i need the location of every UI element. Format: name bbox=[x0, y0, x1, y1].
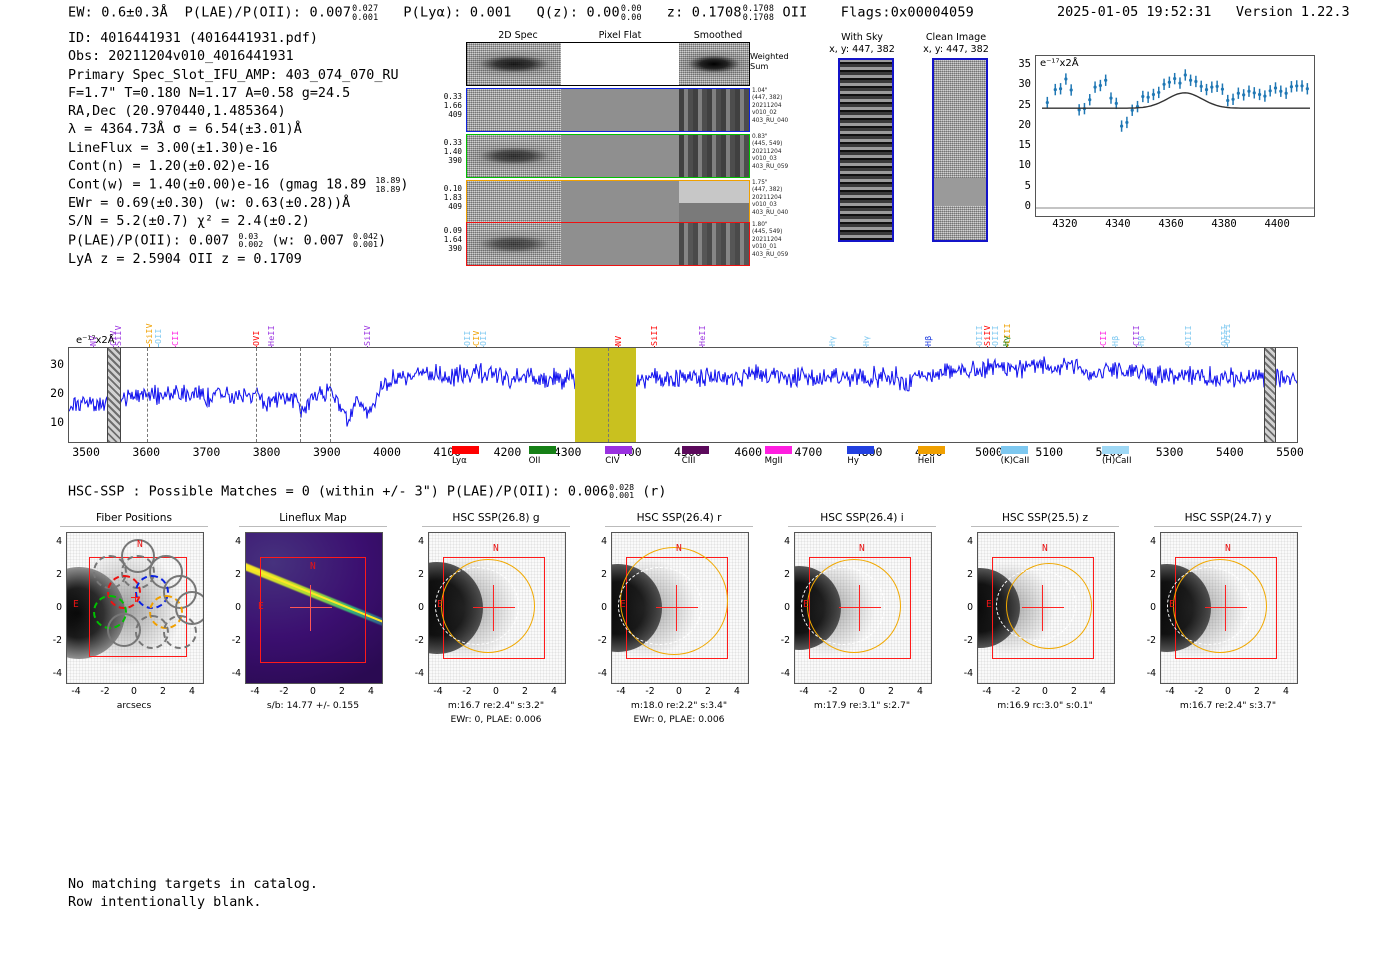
info-plae: P(LAE)/P(OII): 0.007 0.030.002 (w: 0.007… bbox=[68, 232, 408, 251]
cutout-xtick: -2 bbox=[95, 686, 115, 697]
cutout-title-2: Lineflux Map bbox=[238, 512, 388, 524]
header-datetime-version: 2025-01-05 19:52:31 Version 1.22.3 bbox=[1057, 4, 1350, 20]
weighted-sum-strip bbox=[466, 42, 750, 86]
info-plae-w-lo: 0.001 bbox=[353, 239, 378, 249]
line-fit-svg bbox=[1036, 56, 1314, 216]
fitplot-ytick: 5 bbox=[1007, 180, 1031, 192]
header-qz: Q(z): 0.00 bbox=[537, 5, 620, 21]
cutout-title-rule bbox=[1154, 526, 1302, 527]
cutout-xtick: -4 bbox=[245, 686, 265, 697]
cutout-title-6: HSC SSP(25.5) z bbox=[970, 512, 1120, 524]
legend-label: CIV bbox=[605, 456, 619, 466]
compass-n-4: N bbox=[676, 543, 682, 554]
cutout-plot-2: NE bbox=[245, 532, 383, 684]
legend-label: MgII bbox=[765, 456, 783, 466]
cutout-ytick: 2 bbox=[955, 569, 973, 580]
spectrum-line-label: Hγ bbox=[1001, 312, 1011, 346]
spectrum-masked-band bbox=[107, 348, 121, 442]
fitplot-annotation: e⁻¹⁷x2Å bbox=[1040, 58, 1079, 69]
cutout-xtick: 0 bbox=[1218, 686, 1238, 697]
info-ewr: EWr = 0.69(±0.30) (w: 0.63(±0.28))Å bbox=[68, 195, 408, 213]
header-plae-lo: 0.001 bbox=[352, 12, 378, 22]
hscssp-header-suffix: (r) bbox=[642, 484, 666, 499]
spectrum-xtick: 5500 bbox=[1264, 445, 1316, 459]
crosshair-h bbox=[1022, 607, 1064, 608]
legend-swatch bbox=[918, 446, 945, 454]
weighted-sum-label: Weighted Sum bbox=[750, 52, 789, 71]
cutout-ytick: -2 bbox=[1138, 635, 1156, 646]
fiber-meta-3: 1.75" (447, 382) 20211204 v010_03 403_RU… bbox=[752, 180, 816, 217]
info-seeing-params: F=1.7" T=0.180 N=1.17 A=0.58 g=24.5 bbox=[68, 85, 408, 103]
cutout-plot-4: NE bbox=[611, 532, 749, 684]
cutout-ytick: -2 bbox=[772, 635, 790, 646]
cutout-xtick: 0 bbox=[852, 686, 872, 697]
cutout-ytick: -4 bbox=[955, 668, 973, 679]
compass-n-7: N bbox=[1225, 543, 1231, 554]
withsky-title: With Sky x, y: 447, 382 bbox=[814, 32, 910, 55]
cutout-ytick: 2 bbox=[44, 569, 62, 580]
cutout-caption1-7: m:16.7 re:2.4" s:3.7" bbox=[1133, 700, 1323, 713]
cutout-title-rule bbox=[971, 526, 1119, 527]
cutout-ytick: 2 bbox=[1138, 569, 1156, 580]
cutout-ytick: 4 bbox=[772, 536, 790, 547]
info-wavelength-sigma: λ = 4364.73Å σ = 6.54(±3.01)Å bbox=[68, 121, 408, 139]
fiber-label-4: 0.09 1.64 390 bbox=[430, 226, 462, 254]
cutout-xtick: 4 bbox=[727, 686, 747, 697]
compass-e-4: E bbox=[620, 599, 626, 610]
2d-spec-panel: 2D Spec Pixel Flat Smoothed Weighted Sum… bbox=[430, 30, 760, 245]
info-id: ID: 4016441931 (4016441931.pdf) bbox=[68, 30, 408, 48]
cutout-ytick: 2 bbox=[406, 569, 424, 580]
spectrum-line-label: OIII bbox=[1222, 278, 1232, 344]
cutout-xtick: 4 bbox=[1093, 686, 1113, 697]
header-z-species: OII bbox=[782, 5, 807, 21]
spectrum-line-label: OII bbox=[153, 278, 163, 344]
legend-swatch bbox=[765, 446, 792, 454]
cutout-xtick: 0 bbox=[303, 686, 323, 697]
cutout-xtick: 4 bbox=[1276, 686, 1296, 697]
info-lineflux: LineFlux = 3.00(±1.30)e-16 bbox=[68, 140, 408, 158]
fiber-image-row-2 bbox=[466, 134, 750, 178]
info-obs: Obs: 20211204v010_4016441931 bbox=[68, 48, 408, 66]
cutout-xtick: 2 bbox=[515, 686, 535, 697]
spectrum-xtick: 5300 bbox=[1144, 445, 1196, 459]
cutout-title-7: HSC SSP(24.7) y bbox=[1153, 512, 1303, 524]
fitplot-ytick: 20 bbox=[1007, 119, 1031, 131]
spectrum-line-label: OIII bbox=[1183, 312, 1193, 346]
cutout-xtick: -2 bbox=[1006, 686, 1026, 697]
legend-label: CIII bbox=[682, 456, 696, 466]
legend-swatch bbox=[1102, 446, 1129, 454]
fitplot-ytick: 15 bbox=[1007, 139, 1031, 151]
cutout-ytick: 2 bbox=[589, 569, 607, 580]
full-spectrum-chart bbox=[68, 347, 1298, 443]
cutout-caption1-3: m:16.7 re:2.4" s:3.2" bbox=[401, 700, 591, 713]
cleanimage-cutout bbox=[932, 58, 988, 242]
withsky-cutout bbox=[838, 58, 894, 242]
fitplot-ytick: 0 bbox=[1007, 200, 1031, 212]
fitplot-xtick: 4360 bbox=[1152, 218, 1190, 230]
fiber-label-1: 0.33 1.66 409 bbox=[430, 92, 462, 120]
fiber-label-3: 0.10 1.83 409 bbox=[430, 184, 462, 212]
legend-swatch bbox=[452, 446, 479, 454]
cutout-xaxis-label: arcsecs bbox=[39, 700, 229, 713]
info-plae-lo: 0.002 bbox=[238, 239, 263, 249]
cutout-ytick: 0 bbox=[589, 602, 607, 613]
fiber-circle bbox=[163, 615, 197, 649]
crosshair-h bbox=[473, 607, 515, 608]
cutout-xtick: 0 bbox=[1035, 686, 1055, 697]
footer-note: No matching targets in catalog. Row inte… bbox=[68, 876, 318, 913]
cutout-title-5: HSC SSP(26.4) i bbox=[787, 512, 937, 524]
cutout-ytick: -2 bbox=[44, 635, 62, 646]
spectrum-legend-item: Hy bbox=[847, 446, 878, 466]
cutout-ytick: -4 bbox=[772, 668, 790, 679]
spectrum-line-label: NV bbox=[613, 312, 623, 346]
cutout-ytick: 4 bbox=[955, 536, 973, 547]
cutout-xtick: 0 bbox=[124, 686, 144, 697]
legend-swatch bbox=[1001, 446, 1028, 454]
cutout-caption1-2: s/b: 14.77 +/- 0.155 bbox=[218, 700, 408, 713]
compass-n-5: N bbox=[859, 543, 865, 554]
spectrum-xtick: 3500 bbox=[60, 445, 112, 459]
fiber-image-row-4 bbox=[466, 222, 750, 266]
cutout-xtick: 2 bbox=[1064, 686, 1084, 697]
cutout-ytick: 0 bbox=[1138, 602, 1156, 613]
cutout-title-rule bbox=[239, 526, 387, 527]
legend-label: (K)CaII bbox=[1001, 456, 1030, 466]
legend-swatch bbox=[529, 446, 556, 454]
cutout-xtick: 2 bbox=[698, 686, 718, 697]
compass-e-1: E bbox=[73, 599, 79, 610]
legend-label: Lyα bbox=[452, 456, 467, 466]
legend-label: HeII bbox=[918, 456, 935, 466]
spectrum-xtick: 3700 bbox=[180, 445, 232, 459]
cutout-xtick: -2 bbox=[457, 686, 477, 697]
header-plya: P(Lyα): 0.001 bbox=[403, 5, 511, 21]
compass-e-7: E bbox=[1169, 599, 1175, 610]
cutout-title-4: HSC SSP(26.4) r bbox=[604, 512, 754, 524]
header-plae-value: 0.007 bbox=[310, 5, 352, 21]
fiber-meta-2: 0.83" (445, 549) 20211204 v010_03 403_RU… bbox=[752, 134, 816, 171]
lineflux-aperture-box bbox=[260, 557, 366, 663]
cutout-xtick: -4 bbox=[1160, 686, 1180, 697]
info-cont-w: Cont(w) = 1.40(±0.00)e-16 (gmag 18.89 18… bbox=[68, 176, 408, 195]
fitplot-xtick: 4380 bbox=[1205, 218, 1243, 230]
spectrum-legend-item: OII bbox=[529, 446, 560, 466]
crosshair-h bbox=[839, 607, 881, 608]
fitplot-ytick: 30 bbox=[1007, 78, 1031, 90]
cutout-title-1: Fiber Positions bbox=[59, 512, 209, 524]
cutout-plot-7: NE bbox=[1160, 532, 1298, 684]
cutout-title-rule bbox=[422, 526, 570, 527]
spectrum-dashed-line bbox=[147, 348, 148, 442]
cutout-plot-5: NE bbox=[794, 532, 932, 684]
cutout-caption1-6: m:16.9 rc:3.0" s:0.1" bbox=[950, 700, 1140, 713]
spectrum-svg bbox=[69, 348, 1297, 442]
spectrum-legend-item: CIII bbox=[682, 446, 713, 466]
cutout-xtick: 4 bbox=[910, 686, 930, 697]
cutout-xtick: -4 bbox=[794, 686, 814, 697]
lineflux-crosshair-v bbox=[310, 585, 311, 631]
cutout-plot-6: NE bbox=[977, 532, 1115, 684]
spectrum-legend-item: MgII bbox=[765, 446, 796, 466]
spectrum-line-label: OIII bbox=[990, 312, 1000, 346]
dashed-aperture bbox=[801, 567, 885, 645]
spectrum-legend-item: (H)CaII bbox=[1102, 446, 1133, 466]
dashed-aperture bbox=[996, 569, 1076, 641]
dashed-aperture bbox=[1167, 567, 1251, 645]
cutout-ytick: 4 bbox=[406, 536, 424, 547]
spectrum-legend-item: Lyα bbox=[452, 446, 483, 466]
info-gmag-lo: 18.89 bbox=[375, 184, 400, 194]
cutout-ytick: -2 bbox=[406, 635, 424, 646]
spec2d-title-smoothed: Smoothed bbox=[668, 30, 768, 41]
spectrum-xtick: 4000 bbox=[361, 445, 413, 459]
cutout-ytick: -4 bbox=[589, 668, 607, 679]
cutout-ytick: 2 bbox=[772, 569, 790, 580]
spectrum-line-label: HeII bbox=[266, 312, 276, 346]
spectrum-legend-item: (K)CaII bbox=[1001, 446, 1032, 466]
cutout-ytick: 4 bbox=[1138, 536, 1156, 547]
spectrum-line-label: SiIV bbox=[362, 312, 372, 346]
compass-e-3: E bbox=[437, 599, 443, 610]
crosshair-h bbox=[1205, 607, 1247, 608]
fiber-center-v bbox=[135, 593, 136, 602]
cutout-xtick: 2 bbox=[332, 686, 352, 697]
info-primary-spec: Primary Spec_Slot_IFU_AMP: 403_074_070_R… bbox=[68, 67, 408, 85]
cutout-caption2-4: EWr: 0, PLAE: 0.006 bbox=[584, 714, 774, 727]
fitplot-xtick: 4400 bbox=[1258, 218, 1296, 230]
cutout-caption1-4: m:18.0 re:2.2" s:3.4" bbox=[584, 700, 774, 713]
spectrum-annotation: e⁻¹⁷x2Å bbox=[76, 335, 115, 346]
fiber-image-row-3 bbox=[466, 180, 750, 224]
fitplot-xtick: 4340 bbox=[1099, 218, 1137, 230]
cutout-xtick: 4 bbox=[544, 686, 564, 697]
cutout-ytick: -4 bbox=[44, 668, 62, 679]
cutout-ytick: -2 bbox=[223, 635, 241, 646]
cutout-title-rule bbox=[788, 526, 936, 527]
cutout-xtick: 0 bbox=[669, 686, 689, 697]
fiber-circle bbox=[107, 613, 141, 647]
cutout-xtick: 2 bbox=[881, 686, 901, 697]
hscssp-header: HSC-SSP : Possible Matches = 0 (within +… bbox=[68, 483, 666, 500]
cutout-ytick: 2 bbox=[223, 569, 241, 580]
fiber-image-row-1 bbox=[466, 88, 750, 132]
legend-label: Hy bbox=[847, 456, 859, 466]
spectrum-ytick: 30 bbox=[38, 357, 64, 371]
cutout-xtick: 4 bbox=[361, 686, 381, 697]
spectrum-highlight-band bbox=[575, 348, 636, 442]
cutout-xtick: -2 bbox=[274, 686, 294, 697]
compass-n-2: N bbox=[310, 561, 316, 572]
compass-n-6: N bbox=[1042, 543, 1048, 554]
fitplot-ytick: 35 bbox=[1007, 58, 1031, 70]
spectrum-masked-band bbox=[1264, 348, 1276, 442]
header-plae-label: P(LAE)/P(OII): bbox=[185, 5, 302, 21]
line-fit-chart: e⁻¹⁷x2Å bbox=[1035, 55, 1315, 217]
cutout-plot-3: NE bbox=[428, 532, 566, 684]
legend-label: OII bbox=[529, 456, 541, 466]
cutout-xtick: 4 bbox=[182, 686, 202, 697]
cutout-xtick: 2 bbox=[1247, 686, 1267, 697]
header-z-lo: 0.1708 bbox=[743, 12, 774, 22]
cutout-xtick: -2 bbox=[1189, 686, 1209, 697]
cutout-ytick: -4 bbox=[406, 668, 424, 679]
cutout-xtick: -4 bbox=[977, 686, 997, 697]
cutout-caption2-3: EWr: 0, PLAE: 0.006 bbox=[401, 714, 591, 727]
cutout-xtick: -4 bbox=[611, 686, 631, 697]
compass-e-2: E bbox=[258, 601, 264, 612]
spectrum-line-label: Hγ bbox=[827, 312, 837, 346]
header-z: z: 0.1708 bbox=[667, 5, 742, 21]
spectrum-ytick: 10 bbox=[38, 415, 64, 429]
spectrum-line-label: SiII bbox=[649, 312, 659, 346]
spectrum-xtick: 3600 bbox=[120, 445, 172, 459]
legend-label: (H)CaII bbox=[1102, 456, 1132, 466]
crosshair-h bbox=[656, 607, 698, 608]
cutout-title-3: HSC SSP(26.8) g bbox=[421, 512, 571, 524]
footer-line-2: Row intentionally blank. bbox=[68, 894, 318, 912]
dashed-aperture bbox=[435, 567, 519, 645]
spec2d-title-pixelflat: Pixel Flat bbox=[570, 30, 670, 41]
header-datetime: 2025-01-05 19:52:31 bbox=[1057, 4, 1211, 20]
header-flags: Flags:0x00004059 bbox=[841, 5, 974, 21]
cutout-ytick: -2 bbox=[589, 635, 607, 646]
cutout-title-rule bbox=[605, 526, 753, 527]
compass-n-3: N bbox=[493, 543, 499, 554]
fiber-meta-4: 1.80" (445, 549) 20211204 v010_01 403_RU… bbox=[752, 222, 816, 259]
cutout-ytick: 0 bbox=[406, 602, 424, 613]
spectrum-line-label: Hγ bbox=[861, 312, 871, 346]
footer-line-1: No matching targets in catalog. bbox=[68, 876, 318, 894]
info-cont-n: Cont(n) = 1.20(±0.02)e-16 bbox=[68, 158, 408, 176]
fiber-label-2: 0.33 1.40 390 bbox=[430, 138, 462, 166]
legend-swatch bbox=[605, 446, 632, 454]
cutout-title-rule bbox=[60, 526, 208, 527]
cutout-ytick: 0 bbox=[955, 602, 973, 613]
cutout-ytick: -4 bbox=[1138, 668, 1156, 679]
spectrum-line-label: CII bbox=[170, 312, 180, 346]
fiber-meta-1: 1.04" (447, 382) 20211204 v010_02 403_RU… bbox=[752, 88, 816, 125]
fitplot-ytick: 25 bbox=[1007, 99, 1031, 111]
legend-swatch bbox=[847, 446, 874, 454]
fitplot-ytick: 10 bbox=[1007, 159, 1031, 171]
cutout-xtick: 0 bbox=[486, 686, 506, 697]
header-summary-line: EW: 0.6±0.3Å P(LAE)/P(OII): 0.0070.0270.… bbox=[68, 4, 974, 21]
spectrum-legend-item: HeII bbox=[918, 446, 949, 466]
spectrum-dashed-line bbox=[608, 348, 609, 442]
header-ew: EW: 0.6±0.3Å bbox=[68, 5, 168, 21]
spectrum-line-label: Hβ bbox=[1136, 312, 1146, 346]
spectrum-line-label: OII bbox=[478, 312, 488, 346]
cutout-ytick: 0 bbox=[772, 602, 790, 613]
cutout-ytick: -2 bbox=[955, 635, 973, 646]
cutout-plot-1: NE bbox=[66, 532, 204, 684]
compass-n-1: N bbox=[137, 539, 143, 550]
spectrum-xtick: 5400 bbox=[1204, 445, 1256, 459]
spectrum-xtick: 4200 bbox=[481, 445, 533, 459]
spectrum-dashed-line bbox=[300, 348, 301, 442]
info-redshifts: LyA z = 2.5904 OII z = 0.1709 bbox=[68, 251, 408, 269]
spectrum-line-label: OVI bbox=[251, 312, 261, 346]
header-version: Version 1.22.3 bbox=[1236, 4, 1350, 20]
cutout-ytick: 0 bbox=[223, 602, 241, 613]
lineflux-crosshair-h bbox=[290, 607, 332, 608]
spectrum-line-label: Hβ bbox=[923, 312, 933, 346]
hscssp-header-text: HSC-SSP : Possible Matches = 0 (within +… bbox=[68, 484, 608, 499]
spectrum-legend-item: CIV bbox=[605, 446, 636, 466]
cutout-xtick: 2 bbox=[153, 686, 173, 697]
cleanimage-title: Clean Image x, y: 447, 382 bbox=[908, 32, 1004, 55]
cutout-ytick: 4 bbox=[589, 536, 607, 547]
info-sn-chi2: S/N = 5.2(±0.7) χ² = 2.4(±0.2) bbox=[68, 213, 408, 231]
spectrum-line-label: HeII bbox=[697, 312, 707, 346]
cutout-xtick: -4 bbox=[428, 686, 448, 697]
detection-info-block: ID: 4016441931 (4016441931.pdf) Obs: 202… bbox=[68, 30, 408, 269]
cutout-ytick: 4 bbox=[44, 536, 62, 547]
compass-e-6: E bbox=[986, 599, 992, 610]
header-qz-lo: 0.00 bbox=[621, 12, 642, 22]
spectrum-xtick: 3800 bbox=[241, 445, 293, 459]
compass-e-5: E bbox=[803, 599, 809, 610]
cutout-ytick: 0 bbox=[44, 602, 62, 613]
legend-swatch bbox=[682, 446, 709, 454]
spectrum-xtick: 3900 bbox=[301, 445, 353, 459]
cutout-xtick: -4 bbox=[66, 686, 86, 697]
cutout-caption1-5: m:17.9 re:3.1" s:2.7" bbox=[767, 700, 957, 713]
dashed-aperture bbox=[618, 567, 702, 645]
fitplot-xtick: 4320 bbox=[1046, 218, 1084, 230]
cutout-ytick: -4 bbox=[223, 668, 241, 679]
spectrum-ytick: 20 bbox=[38, 386, 64, 400]
hscssp-header-lo: 0.001 bbox=[609, 490, 634, 500]
info-radec: RA,Dec (20.970440,1.485364) bbox=[68, 103, 408, 121]
spectrum-dashed-line bbox=[256, 348, 257, 442]
cutout-xtick: -2 bbox=[823, 686, 843, 697]
cutout-xtick: -2 bbox=[640, 686, 660, 697]
cutout-ytick: 4 bbox=[223, 536, 241, 547]
spectrum-line-label: CII bbox=[1098, 312, 1108, 346]
spectrum-dashed-line bbox=[330, 348, 331, 442]
spec2d-title-2dspec: 2D Spec bbox=[468, 30, 568, 41]
spectrum-line-label: Hβ bbox=[1110, 312, 1120, 346]
